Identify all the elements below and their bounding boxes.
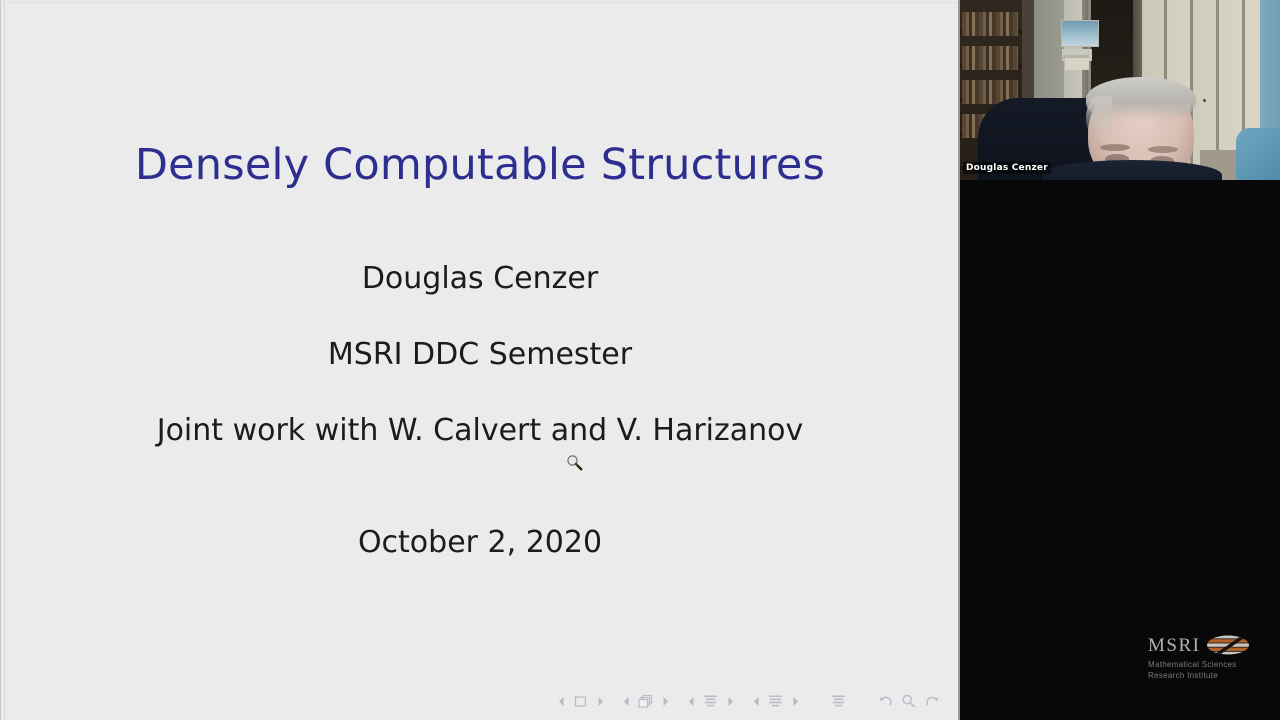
previous-subsection-button[interactable] xyxy=(751,695,761,707)
previous-overview-button[interactable] xyxy=(621,695,631,707)
slide-content: Densely Computable Structures Douglas Ce… xyxy=(0,0,960,690)
bookshelf-books xyxy=(962,12,1018,36)
toolbar-group-history[interactable] xyxy=(877,693,940,710)
lines-centered-icon[interactable] xyxy=(702,693,719,710)
participant-name-label: Douglas Cenzer xyxy=(963,162,1051,174)
msri-subtitle-line1: Mathematical Sciences xyxy=(1148,660,1258,671)
slide-title: Densely Computable Structures xyxy=(0,140,960,190)
slide-author: Douglas Cenzer xyxy=(0,261,960,296)
video-sidebar: Douglas Cenzer MSRI xyxy=(960,0,1280,720)
wall-notepad xyxy=(1065,58,1089,70)
toolbar-group-outline[interactable] xyxy=(830,693,847,710)
toolbar-group-overview[interactable] xyxy=(621,693,670,710)
webcam-video-tile[interactable]: Douglas Cenzer xyxy=(960,0,1280,180)
next-section-button[interactable] xyxy=(725,695,735,707)
magnifier-icon[interactable] xyxy=(900,693,917,710)
lines-right-icon[interactable] xyxy=(767,693,784,710)
lines-outline-icon[interactable] xyxy=(830,693,847,710)
msri-acronym: MSRI xyxy=(1148,636,1200,655)
person-hair-side xyxy=(1086,96,1112,140)
bookshelf-books xyxy=(962,46,1018,70)
stacked-pages-icon[interactable] xyxy=(637,693,654,710)
redo-icon[interactable] xyxy=(923,693,940,710)
next-subsection-button[interactable] xyxy=(790,695,800,707)
msri-logo: MSRI xyxy=(1148,634,1258,682)
msri-mark-icon xyxy=(1206,634,1250,656)
person-eyebrow-left xyxy=(1100,144,1130,151)
undo-icon[interactable] xyxy=(877,693,894,710)
magnifier-cursor xyxy=(566,454,584,472)
msri-subtitle: Mathematical Sciences Research Institute xyxy=(1148,660,1258,682)
wall-picture xyxy=(1061,20,1099,47)
presentation-slide-pane[interactable]: Densely Computable Structures Douglas Ce… xyxy=(0,0,960,720)
slide-venue: MSRI DDC Semester xyxy=(0,337,960,372)
screen-root: Densely Computable Structures Douglas Ce… xyxy=(0,0,1280,720)
closet-knob xyxy=(1203,99,1206,102)
next-overview-button[interactable] xyxy=(660,695,670,707)
blue-object xyxy=(1236,128,1280,180)
toolbar-group-page[interactable] xyxy=(556,693,605,710)
next-page-button[interactable] xyxy=(595,695,605,707)
toolbar-group-section[interactable] xyxy=(686,693,735,710)
slide-joint-work: Joint work with W. Calvert and V. Hariza… xyxy=(0,413,960,448)
msri-logo-row: MSRI xyxy=(1148,634,1258,656)
previous-page-button[interactable] xyxy=(556,695,566,707)
slide-date: October 2, 2020 xyxy=(0,525,960,560)
person-eyebrow-right xyxy=(1148,146,1178,153)
previous-section-button[interactable] xyxy=(686,695,696,707)
presentation-toolbar[interactable] xyxy=(0,688,958,714)
toolbar-group-subsection[interactable] xyxy=(751,693,800,710)
single-page-icon[interactable] xyxy=(572,693,589,710)
msri-subtitle-line2: Research Institute xyxy=(1148,671,1258,682)
